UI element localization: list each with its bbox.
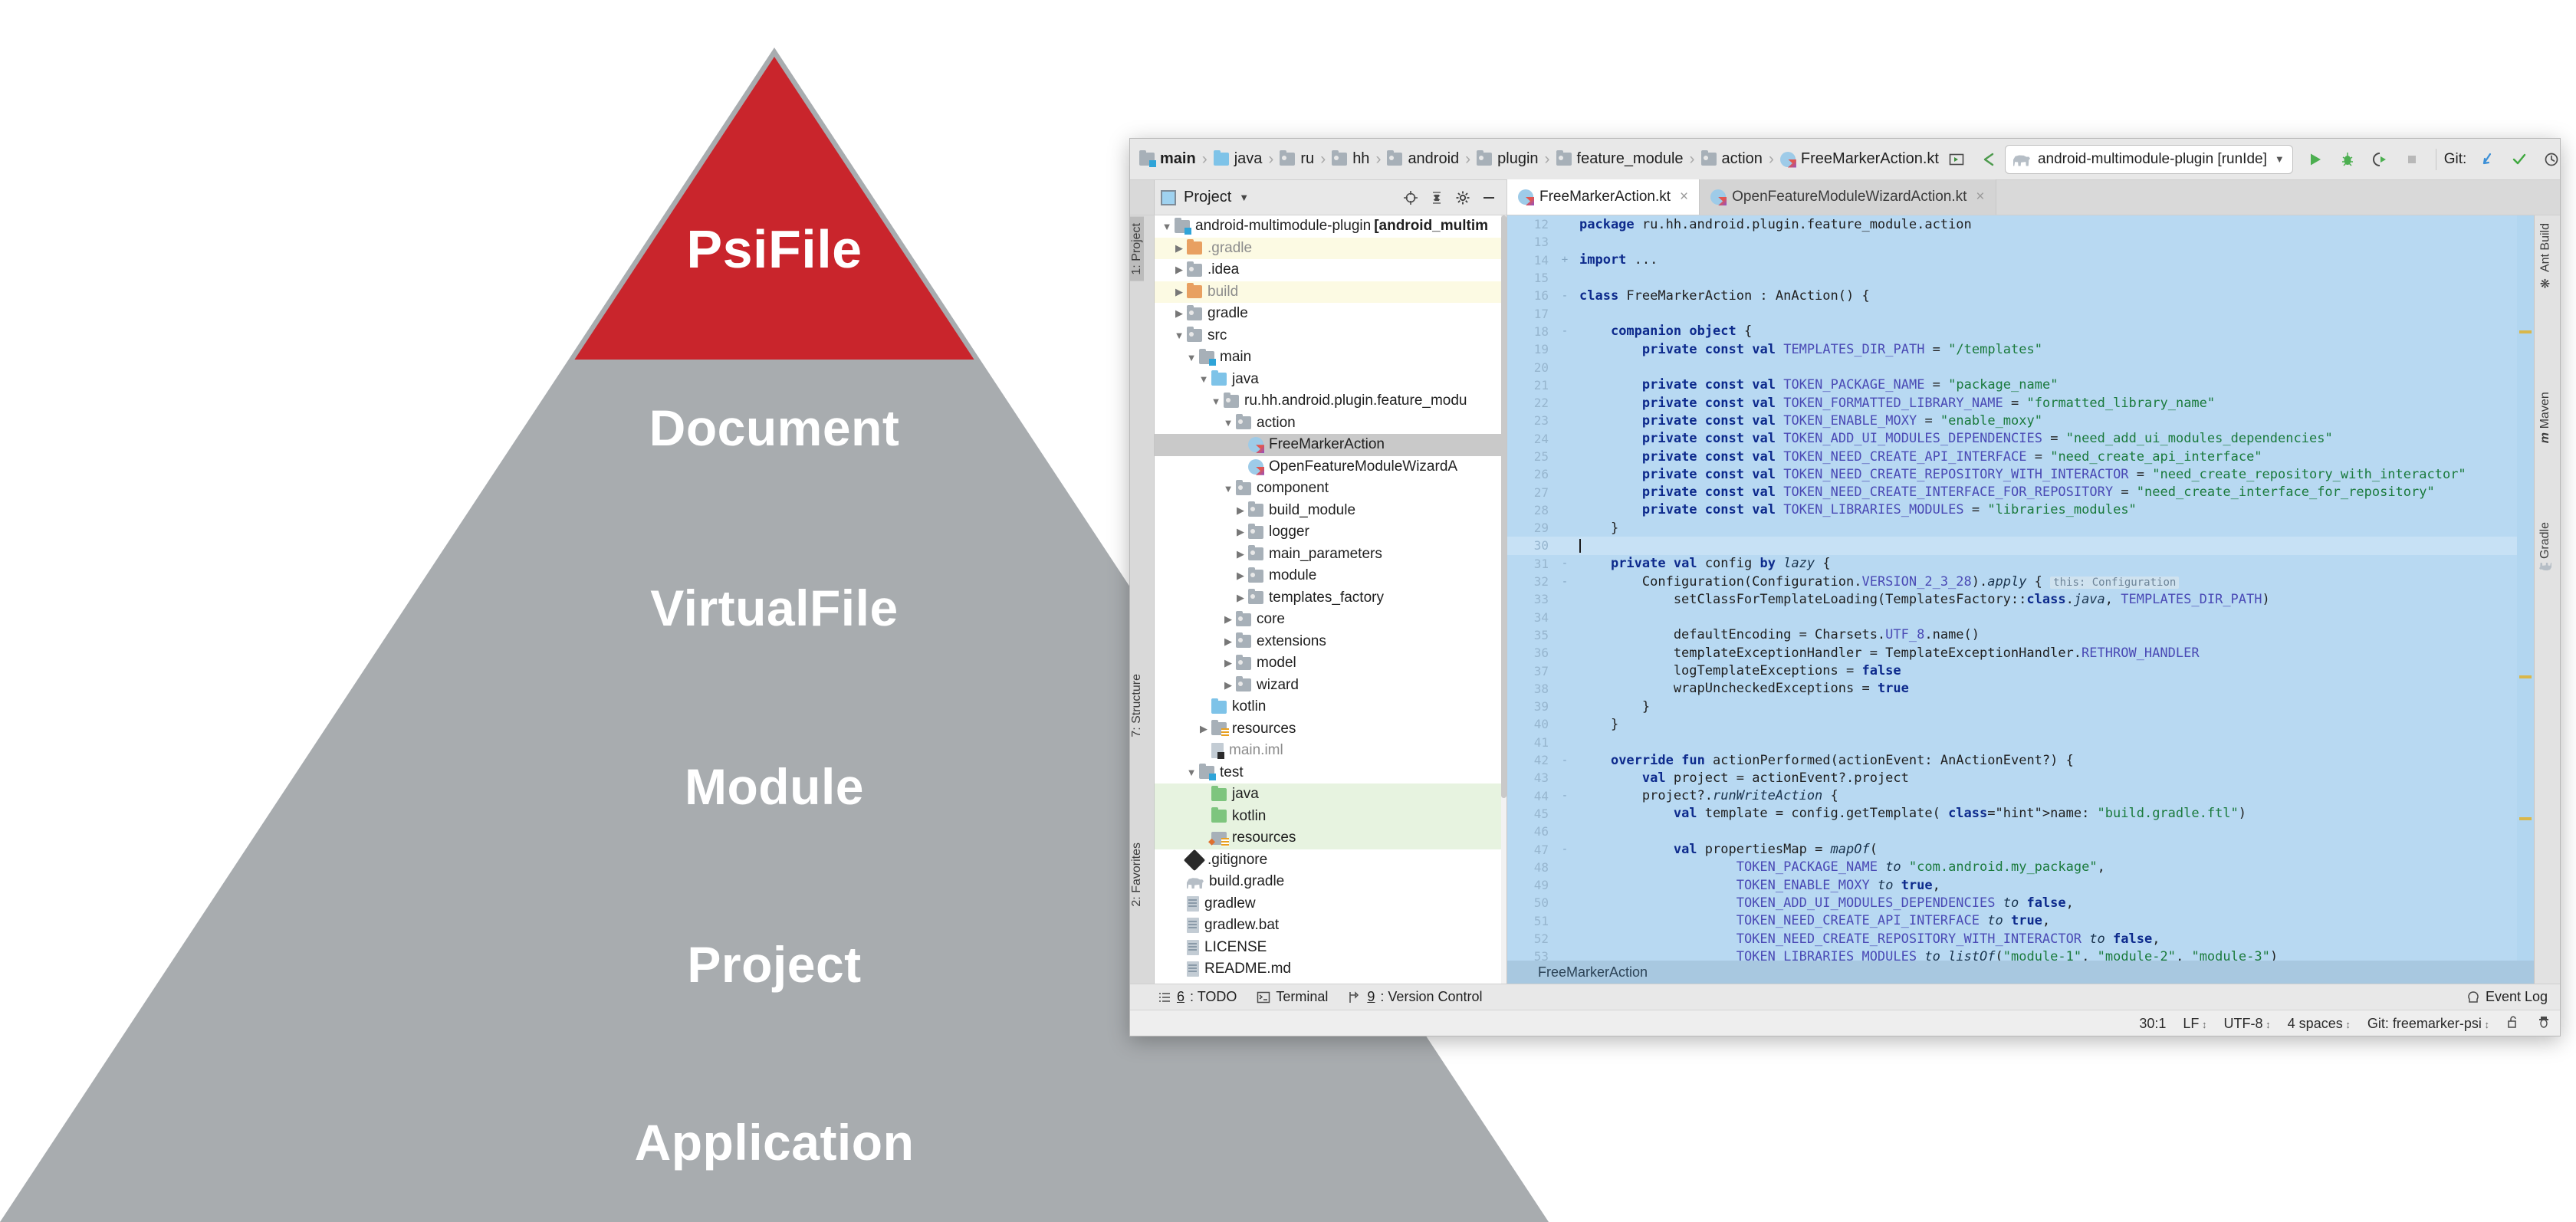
tree-item-ru-hh-android-plugin-feature-modu[interactable]: ▼ru.hh.android.plugin.feature_modu bbox=[1155, 390, 1506, 412]
code-text: TOKEN_NEED_CREATE_API_INTERFACE to true, bbox=[1575, 913, 2050, 928]
line-number: 33 bbox=[1507, 592, 1555, 606]
code-line[interactable]: 14+import ... bbox=[1507, 251, 2534, 269]
code-text: override fun actionPerformed(actionEvent… bbox=[1575, 753, 2074, 768]
inspector-icon[interactable] bbox=[2537, 1015, 2551, 1033]
sidebar-item-structure[interactable]: 7: Structure bbox=[1130, 668, 1144, 744]
code-line[interactable]: 34 bbox=[1507, 609, 2534, 626]
tree-item-label: java bbox=[1232, 786, 1259, 803]
package-icon bbox=[1248, 591, 1263, 604]
tree-item-label: OpenFeatureModuleWizardA bbox=[1269, 458, 1457, 475]
sidebar-item-project[interactable]: 1: Project bbox=[1130, 217, 1144, 281]
breadcrumb-item-feature-module[interactable]: feature_module bbox=[1555, 150, 1685, 168]
tree-item-readme-md[interactable]: README.md bbox=[1155, 958, 1506, 981]
code-fold-toggle[interactable]: + bbox=[1555, 254, 1575, 266]
tool-button-todo[interactable]: 6: TODO bbox=[1158, 989, 1237, 1005]
tree-item-label: action bbox=[1257, 415, 1296, 432]
tree-item-label: main.iml bbox=[1229, 742, 1283, 759]
breadcrumb-item-action[interactable]: action bbox=[1700, 150, 1764, 168]
line-number: 35 bbox=[1507, 628, 1555, 642]
chevron-down-icon[interactable]: ▼ bbox=[2275, 153, 2285, 165]
chevron-down-icon[interactable]: ▼ bbox=[1221, 483, 1236, 494]
chevron-right-icon[interactable]: ▶ bbox=[1171, 264, 1187, 276]
line-number: 44 bbox=[1507, 789, 1555, 803]
gradle-icon bbox=[1187, 875, 1204, 889]
code-line[interactable]: 21 private const val TOKEN_PACKAGE_NAME … bbox=[1507, 376, 2534, 394]
ide-main-body: 1: Project 7: Structure 2: Favorites ▼an… bbox=[1130, 215, 2560, 984]
breadcrumb-item-freemarkeraction-kt[interactable]: FreeMarkerAction.kt bbox=[1779, 150, 1940, 168]
kotlin-file-icon bbox=[1710, 189, 1726, 205]
code-text: private const val TEMPLATES_DIR_PATH = "… bbox=[1575, 342, 2042, 357]
file-encoding[interactable]: UTF-8 ↕ bbox=[2224, 1016, 2271, 1032]
code-text: class FreeMarkerAction : AnAction() { bbox=[1575, 288, 1870, 304]
folder-blue-icon bbox=[1211, 701, 1227, 714]
code-line[interactable]: 27 private const val TOKEN_NEED_CREATE_I… bbox=[1507, 483, 2534, 501]
breadcrumb-item-hh[interactable]: hh bbox=[1330, 150, 1371, 168]
lock-open-icon[interactable] bbox=[2506, 1015, 2520, 1033]
tree-item-license[interactable]: LICENSE bbox=[1155, 937, 1506, 959]
tree-item-java[interactable]: ▼java bbox=[1155, 369, 1506, 391]
tree-item-label: test bbox=[1220, 764, 1244, 781]
code-line[interactable]: 16-class FreeMarkerAction : AnAction() { bbox=[1507, 287, 2534, 304]
line-number: 37 bbox=[1507, 664, 1555, 678]
tree-item-extensions[interactable]: ▶extensions bbox=[1155, 631, 1506, 653]
editor-scrollbar[interactable] bbox=[2517, 215, 2534, 984]
bottom-tool-bar: 6: TODO Terminal 9: Version Control Even… bbox=[1130, 984, 2560, 1010]
file-icon bbox=[1187, 961, 1199, 977]
tree-item-gradlew-bat[interactable]: gradlew.bat bbox=[1155, 915, 1506, 937]
code-text: project?.runWriteAction { bbox=[1575, 788, 1838, 803]
tree-item-gradlew[interactable]: gradlew bbox=[1155, 893, 1506, 915]
project-tree[interactable]: ▼android-multimodule-plugin [android_mul… bbox=[1155, 215, 1507, 984]
left-strip-spacer bbox=[1130, 180, 1155, 215]
tree-item-label: FreeMarkerAction bbox=[1269, 436, 1385, 453]
chevron-down-icon[interactable]: ▼ bbox=[1159, 221, 1175, 232]
tree-item-main[interactable]: ▼main bbox=[1155, 347, 1506, 369]
todo-icon bbox=[1158, 990, 1171, 1004]
todo-shortcut: 6 bbox=[1177, 989, 1184, 1005]
tree-item-java[interactable]: java bbox=[1155, 783, 1506, 806]
tree-item-label: build.gradle bbox=[1209, 873, 1284, 890]
package-icon bbox=[1701, 153, 1717, 166]
resources-icon bbox=[1211, 722, 1227, 735]
chevron-right-icon[interactable]: ▶ bbox=[1171, 286, 1187, 298]
main-toolbar: android-multimodule-plugin [runIde] ▼ Gi… bbox=[1940, 143, 2561, 176]
breadcrumb-item-plugin[interactable]: plugin bbox=[1475, 150, 1539, 168]
stop-icon[interactable] bbox=[2396, 143, 2428, 176]
line-number: 43 bbox=[1507, 770, 1555, 785]
indent-setting[interactable]: 4 spaces ↕ bbox=[2288, 1016, 2351, 1032]
chevron-down-icon[interactable]: ▼ bbox=[1196, 373, 1211, 385]
kotlin-file-icon bbox=[1518, 189, 1533, 205]
line-number: 19 bbox=[1507, 342, 1555, 356]
right-tool-strip: ❋ Ant Build m Maven Gradle bbox=[2534, 215, 2560, 984]
line-number: 40 bbox=[1507, 717, 1555, 731]
code-text: wrapUncheckedExceptions = true bbox=[1575, 681, 1909, 696]
line-number: 25 bbox=[1507, 449, 1555, 464]
editor-marker bbox=[2519, 817, 2532, 820]
code-text: private const val TOKEN_ADD_UI_MODULES_D… bbox=[1575, 431, 2333, 446]
tree-item-core[interactable]: ▶core bbox=[1155, 609, 1506, 631]
caret-position[interactable]: 30:1 bbox=[2139, 1016, 2166, 1032]
status-bar: 30:1 LF ↕ UTF-8 ↕ 4 spaces ↕ Git: freema… bbox=[1130, 1010, 2560, 1036]
tree-item-wizard[interactable]: ▶wizard bbox=[1155, 675, 1506, 697]
tree-item-label: gradlew bbox=[1204, 895, 1256, 912]
todo-label: : TODO bbox=[1190, 989, 1237, 1005]
code-line[interactable]: 12package ru.hh.android.plugin.feature_m… bbox=[1507, 215, 2534, 233]
code-text: private const val TOKEN_LIBRARIES_MODULE… bbox=[1575, 502, 2137, 517]
line-number: 27 bbox=[1507, 485, 1555, 500]
code-fold-toggle[interactable]: - bbox=[1555, 290, 1575, 302]
line-number: 42 bbox=[1507, 753, 1555, 767]
tree-item-label: resources bbox=[1232, 721, 1296, 737]
breadcrumb-item-ru[interactable]: ru bbox=[1278, 150, 1316, 168]
event-log-label: Event Log bbox=[2486, 989, 2548, 1005]
code-line[interactable]: 38 wrapUncheckedExceptions = true bbox=[1507, 680, 2534, 698]
folder-gray-icon bbox=[1187, 307, 1202, 320]
code-line[interactable]: 26 private const val TOKEN_NEED_CREATE_R… bbox=[1507, 465, 2534, 483]
spinner-icon: ↕ bbox=[2199, 1019, 2206, 1030]
chevron-down-icon[interactable]: ▼ bbox=[1208, 396, 1224, 407]
line-number: 45 bbox=[1507, 806, 1555, 821]
module-blue-icon bbox=[1175, 220, 1190, 233]
line-number: 15 bbox=[1507, 271, 1555, 285]
code-line[interactable]: 15 bbox=[1507, 269, 2534, 287]
code-line[interactable]: 36 templateExceptionHandler = TemplateEx… bbox=[1507, 644, 2534, 662]
tree-item-build[interactable]: ▶build bbox=[1155, 281, 1506, 304]
code-fold-toggle[interactable]: - bbox=[1555, 754, 1575, 767]
chevron-right-icon[interactable]: ▶ bbox=[1221, 679, 1236, 691]
gear-icon[interactable] bbox=[1451, 186, 1474, 209]
chevron-down-icon[interactable]: ▼ bbox=[1184, 767, 1199, 778]
line-number: 14 bbox=[1507, 253, 1555, 268]
tree-item-label: .gradle bbox=[1207, 240, 1252, 257]
history-icon[interactable] bbox=[2535, 143, 2561, 176]
line-number: 32 bbox=[1507, 574, 1555, 589]
tree-item-src[interactable]: ▼src bbox=[1155, 325, 1506, 347]
breadcrumb-item-label: hh bbox=[1352, 150, 1369, 168]
project-window-icon bbox=[1161, 190, 1176, 205]
tree-scrollbar-thumb[interactable] bbox=[1501, 215, 1506, 798]
tree-item-label: .idea bbox=[1207, 261, 1239, 278]
code-line[interactable]: 32- Configuration(Configuration.VERSION_… bbox=[1507, 573, 2534, 590]
tree-item-label: ru.hh.android.plugin.feature_modu bbox=[1244, 393, 1467, 409]
sidebar-item-favorites[interactable]: 2: Favorites bbox=[1130, 836, 1144, 913]
code-lines[interactable]: 12package ru.hh.android.plugin.feature_m… bbox=[1507, 215, 2534, 984]
close-icon[interactable]: × bbox=[1976, 189, 1984, 205]
code-line[interactable]: 30 bbox=[1507, 537, 2534, 554]
tree-item-label: wizard bbox=[1257, 677, 1299, 694]
chevron-right-icon[interactable]: ▶ bbox=[1221, 613, 1236, 626]
breadcrumb-item-label: java bbox=[1234, 150, 1263, 168]
tree-item-module[interactable]: ▶module bbox=[1155, 565, 1506, 587]
chevron-right-icon[interactable]: ▶ bbox=[1221, 657, 1236, 669]
code-line[interactable]: 45 val template = config.getTemplate( cl… bbox=[1507, 805, 2534, 823]
code-line[interactable]: 29 } bbox=[1507, 519, 2534, 537]
close-icon[interactable]: × bbox=[1680, 189, 1688, 205]
package-icon bbox=[1236, 678, 1251, 691]
code-line[interactable]: 23 private const val TOKEN_ENABLE_MOXY =… bbox=[1507, 412, 2534, 429]
tree-item-freemarkeraction[interactable]: FreeMarkerAction bbox=[1155, 434, 1506, 456]
gradle-icon bbox=[2013, 153, 2030, 166]
vcs-shortcut: 9 bbox=[1367, 989, 1375, 1005]
line-separator[interactable]: LF ↕ bbox=[2183, 1016, 2206, 1032]
tree-item-label: extensions bbox=[1257, 633, 1326, 650]
code-text: } bbox=[1575, 699, 1650, 714]
package-icon bbox=[1248, 526, 1263, 539]
event-log-icon bbox=[2466, 990, 2480, 1004]
code-line[interactable]: 20 bbox=[1507, 358, 2534, 376]
code-line[interactable]: 22 private const val TOKEN_FORMATTED_LIB… bbox=[1507, 394, 2534, 412]
terminal-label: Terminal bbox=[1276, 989, 1328, 1005]
sidebar-item-gradle[interactable]: Gradle bbox=[2538, 522, 2552, 573]
code-editor[interactable]: 12package ru.hh.android.plugin.feature_m… bbox=[1507, 215, 2534, 984]
chevron-down-icon[interactable]: ▼ bbox=[1221, 417, 1236, 429]
tree-item-label: core bbox=[1257, 611, 1285, 628]
tree-item-kotlin[interactable]: kotlin bbox=[1155, 806, 1506, 828]
folder-blue-icon bbox=[1211, 373, 1227, 386]
spinner-icon: ↕ bbox=[2482, 1019, 2489, 1030]
code-line[interactable]: 48 TOKEN_PACKAGE_NAME to "com.android.my… bbox=[1507, 859, 2534, 876]
tree-item-logger[interactable]: ▶logger bbox=[1155, 521, 1506, 544]
chevron-right-icon[interactable]: ▶ bbox=[1233, 592, 1248, 604]
project-panel-title: Project bbox=[1184, 189, 1231, 206]
tree-item--gradle[interactable]: ▶.gradle bbox=[1155, 238, 1506, 260]
chevron-right-icon[interactable]: ▶ bbox=[1233, 548, 1248, 560]
code-line[interactable]: 40 } bbox=[1507, 715, 2534, 733]
code-text: TOKEN_NEED_CREATE_REPOSITORY_WITH_INTERA… bbox=[1575, 931, 2160, 947]
code-fold-toggle[interactable]: - bbox=[1555, 790, 1575, 802]
editor-tab-freemarkeraction-kt[interactable]: FreeMarkerAction.kt× bbox=[1507, 179, 1700, 215]
code-line[interactable]: 41 bbox=[1507, 734, 2534, 751]
tree-item-label: main_parameters bbox=[1269, 546, 1382, 563]
code-line[interactable]: 37 logTemplateExceptions = false bbox=[1507, 662, 2534, 679]
project-toolwindow-header: Project ▼ bbox=[1155, 180, 1507, 215]
tree-item-main-parameters[interactable]: ▶main_parameters bbox=[1155, 544, 1506, 566]
code-fold-toggle[interactable]: - bbox=[1555, 325, 1575, 337]
code-text: import ... bbox=[1575, 252, 1658, 268]
line-number: 31 bbox=[1507, 557, 1555, 571]
breadcrumb-item-android[interactable]: android bbox=[1385, 150, 1460, 168]
breadcrumb-item-main[interactable]: main bbox=[1138, 150, 1198, 168]
chevron-down-icon[interactable]: ▼ bbox=[1171, 330, 1187, 341]
kotlin-file-icon bbox=[1248, 459, 1263, 475]
line-number: 34 bbox=[1507, 610, 1555, 625]
preview-icon[interactable] bbox=[1940, 143, 1973, 176]
file-icon bbox=[1187, 918, 1199, 933]
collapse-all-icon[interactable] bbox=[1425, 186, 1448, 209]
tree-item-label: src bbox=[1207, 327, 1227, 344]
breadcrumb-separator: › bbox=[1465, 150, 1470, 169]
line-number: 39 bbox=[1507, 699, 1555, 714]
pyramid-level-application: Application bbox=[0, 1113, 1549, 1171]
tree-item-label: logger bbox=[1269, 524, 1309, 540]
git-branch-widget[interactable]: Git: freemarker-psi ↕ bbox=[2367, 1016, 2489, 1032]
tree-item-label: model bbox=[1257, 655, 1296, 672]
code-text bbox=[1575, 538, 1581, 554]
tree-item-openfeaturemodulewizarda[interactable]: OpenFeatureModuleWizardA bbox=[1155, 456, 1506, 478]
code-line[interactable]: 19 private const val TEMPLATES_DIR_PATH … bbox=[1507, 340, 2534, 358]
toolwindow-and-tabs-row: Project ▼ FreeMarkerA bbox=[1130, 180, 2560, 215]
tree-item-build-gradle[interactable]: build.gradle bbox=[1155, 871, 1506, 893]
code-text: TOKEN_ADD_UI_MODULES_DEPENDENCIES to fal… bbox=[1575, 895, 2074, 911]
iml-file-icon bbox=[1211, 743, 1224, 758]
spinner-icon: ↕ bbox=[2263, 1019, 2271, 1030]
commit-icon[interactable] bbox=[2503, 143, 2535, 176]
breadcrumb-item-label: main bbox=[1160, 150, 1196, 168]
run-coverage-icon[interactable] bbox=[2364, 143, 2396, 176]
line-number: 26 bbox=[1507, 467, 1555, 481]
code-line[interactable]: 39 } bbox=[1507, 698, 2534, 715]
package-icon bbox=[1280, 153, 1295, 166]
code-text: } bbox=[1575, 717, 1618, 732]
tree-item-component[interactable]: ▼component bbox=[1155, 478, 1506, 500]
tree-item-label: LICENSE bbox=[1204, 939, 1267, 956]
module-blue-icon bbox=[1199, 351, 1214, 364]
screenshot-root: PsiFile Document VirtualFile Module Proj… bbox=[0, 0, 2576, 1222]
chevron-right-icon[interactable]: ▶ bbox=[1171, 242, 1187, 255]
code-text: val template = config.getTemplate( class… bbox=[1575, 806, 2246, 821]
line-number: 22 bbox=[1507, 396, 1555, 410]
code-line[interactable]: 31- private val config by lazy { bbox=[1507, 555, 2534, 573]
editor-marker bbox=[2519, 675, 2532, 678]
tree-item-templates-factory[interactable]: ▶templates_factory bbox=[1155, 587, 1506, 609]
chevron-right-icon[interactable]: ▶ bbox=[1233, 504, 1248, 517]
folder-gray-icon bbox=[1187, 329, 1202, 342]
code-line[interactable]: 28 private const val TOKEN_LIBRARIES_MOD… bbox=[1507, 501, 2534, 519]
chevron-right-icon[interactable]: ▶ bbox=[1171, 307, 1187, 320]
vcs-label: : Version Control bbox=[1380, 989, 1482, 1005]
chevron-down-icon[interactable]: ▼ bbox=[1184, 352, 1199, 363]
kotlin-file-icon bbox=[1248, 437, 1263, 452]
code-line[interactable]: 33 setClassForTemplateLoading(TemplatesF… bbox=[1507, 590, 2534, 608]
update-project-icon[interactable] bbox=[2471, 143, 2503, 176]
tool-button-version-control[interactable]: 9: Version Control bbox=[1348, 989, 1482, 1005]
breadcrumb-separator: › bbox=[1202, 150, 1207, 169]
tree-item-resources[interactable]: ▶resources bbox=[1155, 718, 1506, 741]
code-fold-toggle[interactable]: - bbox=[1555, 557, 1575, 570]
code-text: templateExceptionHandler = TemplateExcep… bbox=[1575, 645, 2200, 661]
code-text: package ru.hh.android.plugin.feature_mod… bbox=[1575, 217, 1972, 232]
run-configuration-selector[interactable]: android-multimodule-plugin [runIde] ▼ bbox=[2005, 145, 2293, 174]
event-log-button[interactable]: Event Log bbox=[2466, 989, 2560, 1005]
code-fold-toggle[interactable]: - bbox=[1555, 843, 1575, 856]
tool-button-terminal[interactable]: Terminal bbox=[1257, 989, 1328, 1005]
tree-item-action[interactable]: ▼action bbox=[1155, 412, 1506, 435]
chevron-right-icon[interactable]: ▶ bbox=[1196, 723, 1211, 735]
toolbar-divider bbox=[2436, 149, 2436, 170]
tree-item-gradle[interactable]: ▶gradle bbox=[1155, 303, 1506, 325]
code-line[interactable]: 42- override fun actionPerformed(actionE… bbox=[1507, 751, 2534, 769]
line-number: 23 bbox=[1507, 413, 1555, 428]
code-line[interactable]: 43 val project = actionEvent?.project bbox=[1507, 769, 2534, 787]
code-text: private const val TOKEN_PACKAGE_NAME = "… bbox=[1575, 377, 2058, 393]
terminal-icon bbox=[1257, 990, 1270, 1004]
code-text: private const val TOKEN_FORMATTED_LIBRAR… bbox=[1575, 396, 2215, 411]
line-number: 46 bbox=[1507, 824, 1555, 839]
code-fold-toggle[interactable]: - bbox=[1555, 576, 1575, 588]
code-line[interactable]: 35 defaultEncoding = Charsets.UTF_8.name… bbox=[1507, 626, 2534, 644]
breadcrumb-separator: › bbox=[1690, 150, 1695, 169]
code-text: val propertiesMap = mapOf( bbox=[1575, 842, 1878, 857]
code-text: defaultEncoding = Charsets.UTF_8.name() bbox=[1575, 627, 1980, 642]
tree-item-label: README.md bbox=[1204, 961, 1291, 977]
breadcrumb-item-java[interactable]: java bbox=[1212, 150, 1264, 168]
tree-item-model[interactable]: ▶model bbox=[1155, 652, 1506, 675]
resources-green-icon bbox=[1211, 832, 1227, 845]
editor-tab-openfeaturemodulewizardaction-kt[interactable]: OpenFeatureModuleWizardAction.kt× bbox=[1700, 179, 1996, 215]
tree-item-label: templates_factory bbox=[1269, 590, 1384, 606]
chevron-right-icon[interactable]: ▶ bbox=[1233, 570, 1248, 582]
code-line[interactable]: 13 bbox=[1507, 233, 2534, 251]
tree-item-label: gradle bbox=[1207, 305, 1248, 322]
tree-item--idea[interactable]: ▶.idea bbox=[1155, 259, 1506, 281]
code-line[interactable]: 52 TOKEN_NEED_CREATE_REPOSITORY_WITH_INT… bbox=[1507, 930, 2534, 948]
code-line[interactable]: 49 TOKEN_ENABLE_MOXY to true, bbox=[1507, 876, 2534, 894]
code-line[interactable]: 46 bbox=[1507, 823, 2534, 840]
tree-item-android-multimodule-plugin[interactable]: ▼android-multimodule-plugin [android_mul… bbox=[1155, 215, 1506, 238]
gradle-icon bbox=[2539, 563, 2551, 573]
line-number: 20 bbox=[1507, 360, 1555, 375]
breadcrumb-item-label: plugin bbox=[1497, 150, 1538, 168]
git-icon bbox=[1184, 849, 1205, 871]
breadcrumb-item-label: FreeMarkerAction.kt bbox=[1801, 150, 1939, 168]
package-icon bbox=[1236, 416, 1251, 429]
sidebar-item-ant-build[interactable]: ❋ Ant Build bbox=[2538, 223, 2553, 291]
tree-item-resources[interactable]: resources bbox=[1155, 827, 1506, 849]
editor-tab-label: FreeMarkerAction.kt bbox=[1539, 189, 1671, 205]
tree-item-test[interactable]: ▼test bbox=[1155, 762, 1506, 784]
code-line[interactable]: 44- project?.runWriteAction { bbox=[1507, 787, 2534, 805]
chevron-right-icon[interactable]: ▶ bbox=[1221, 636, 1236, 648]
debug-icon[interactable] bbox=[2331, 143, 2364, 176]
locate-icon[interactable] bbox=[1399, 186, 1422, 209]
maven-label: Maven bbox=[2538, 392, 2552, 429]
code-text: private const val TOKEN_ENABLE_MOXY = "e… bbox=[1575, 413, 2042, 429]
tree-item-label: kotlin bbox=[1232, 698, 1266, 715]
code-line[interactable]: 47- val propertiesMap = mapOf( bbox=[1507, 840, 2534, 858]
hide-window-icon[interactable] bbox=[1477, 186, 1500, 209]
chevron-down-icon[interactable]: ▼ bbox=[1239, 192, 1249, 203]
sidebar-item-maven[interactable]: m Maven bbox=[2538, 392, 2552, 443]
tree-item-build-module[interactable]: ▶build_module bbox=[1155, 500, 1506, 522]
tree-scrollbar[interactable] bbox=[1501, 215, 1506, 984]
package-icon bbox=[1332, 153, 1347, 166]
run-icon[interactable] bbox=[2299, 143, 2331, 176]
tree-item-kotlin[interactable]: kotlin bbox=[1155, 696, 1506, 718]
git-label: Git: bbox=[2444, 151, 2467, 168]
editor-breadcrumb-footer: FreeMarkerAction bbox=[1507, 961, 2534, 984]
line-number: 38 bbox=[1507, 682, 1555, 696]
code-text: logTemplateExceptions = false bbox=[1575, 663, 1901, 678]
breadcrumb-item-label: android bbox=[1408, 150, 1459, 168]
package-icon bbox=[1224, 395, 1239, 408]
code-line[interactable]: 18- companion object { bbox=[1507, 323, 2534, 340]
code-line[interactable]: 51 TOKEN_NEED_CREATE_API_INTERFACE to tr… bbox=[1507, 912, 2534, 930]
tree-item--gitignore[interactable]: .gitignore bbox=[1155, 849, 1506, 872]
tree-item-main-iml[interactable]: main.iml bbox=[1155, 740, 1506, 762]
tree-item-label: java bbox=[1232, 371, 1259, 388]
line-number: 51 bbox=[1507, 914, 1555, 928]
code-line[interactable]: 17 bbox=[1507, 304, 2534, 322]
back-arrow-icon[interactable] bbox=[1973, 143, 2005, 176]
code-line[interactable]: 25 private const val TOKEN_NEED_CREATE_A… bbox=[1507, 448, 2534, 465]
code-line[interactable]: 50 TOKEN_ADD_UI_MODULES_DEPENDENCIES to … bbox=[1507, 894, 2534, 912]
code-line[interactable]: 24 private const val TOKEN_ADD_UI_MODULE… bbox=[1507, 430, 2534, 448]
maven-icon: m bbox=[2538, 432, 2552, 443]
breadcrumb[interactable]: main›java›ru›hh›android›plugin›feature_m… bbox=[1138, 150, 1940, 169]
chevron-right-icon[interactable]: ▶ bbox=[1233, 526, 1248, 538]
tree-item-suffix: [android_multim bbox=[1374, 218, 1488, 235]
